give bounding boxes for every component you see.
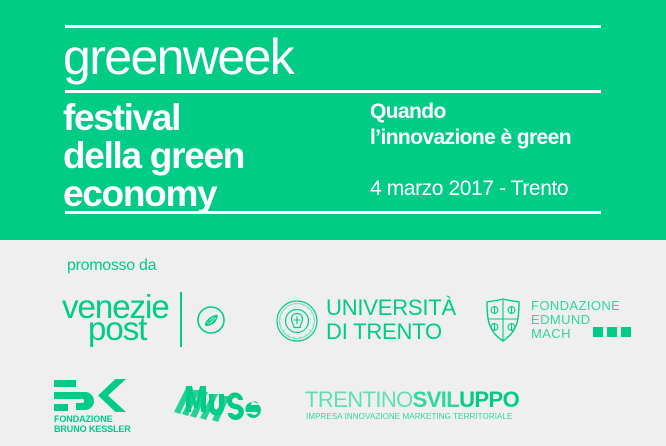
ts-word-uppo: UPPO	[459, 387, 519, 412]
trentino-sviluppo-wordmark: TRENTINOSVILUPPO	[305, 388, 519, 412]
fem-square-1	[593, 327, 603, 337]
fem-line-2: EDMUND	[531, 313, 620, 327]
fbk-line-1: FONDAZIONE	[54, 414, 131, 424]
hero-rule-middle	[65, 90, 601, 93]
fem-line-1: FONDAZIONE	[531, 299, 620, 313]
logo-venezie-post: venezie post	[62, 292, 237, 350]
festival-title-line-1: festival	[63, 99, 244, 137]
festival-title-line-3: economy	[63, 175, 244, 213]
venezie-post-divider	[180, 292, 182, 347]
university-seal-icon	[276, 300, 318, 342]
unitn-line-1: UNIVERSITÀ	[326, 296, 456, 320]
ts-word-svil: SVIL	[413, 387, 460, 412]
quartered-shield-icon	[483, 297, 523, 343]
leaf-in-circle-icon	[197, 306, 225, 334]
logo-fondazione-bruno-kessler: FONDAZIONE BRUNO KESSLER	[52, 378, 152, 438]
fbk-wordmark: FONDAZIONE BRUNO KESSLER	[54, 414, 131, 434]
tagline-line-2: l’innovazione è green	[370, 125, 571, 151]
festival-title-line-2: della green	[63, 137, 244, 175]
logo-universita-di-trento: UNIVERSITÀ DI TRENTO	[276, 296, 446, 348]
fbk-line-2: BRUNO KESSLER	[54, 424, 131, 434]
fem-square-2	[607, 327, 617, 337]
unitn-line-2: DI TRENTO	[326, 320, 456, 344]
ts-word-trentino: TRENTINO	[305, 387, 413, 412]
hero-banner: greenweek festival della green economy Q…	[0, 0, 666, 240]
event-tagline: Quando l’innovazione è green	[370, 99, 571, 151]
hero-rule-bottom	[65, 211, 601, 214]
muse-extruded-wordmark-icon	[172, 417, 272, 434]
fbk-monogram-icon	[52, 378, 130, 414]
trentino-sviluppo-subtitle: IMPRESA INNOVAZIONE MARKETING TERRITORIA…	[306, 412, 512, 422]
event-wordmark: greenweek	[63, 29, 293, 85]
fem-three-squares-icon	[593, 327, 631, 337]
promoted-by-label: promosso da	[67, 257, 156, 275]
event-date-location: 4 marzo 2017 - Trento	[370, 177, 568, 201]
festival-title: festival della green economy	[63, 99, 244, 213]
venezie-post-line-2: post	[88, 312, 146, 345]
hero-rule-top	[65, 25, 601, 28]
tagline-line-1: Quando	[370, 99, 571, 125]
greenweek-poster: greenweek festival della green economy Q…	[0, 0, 666, 446]
logo-trentino-sviluppo: TRENTINOSVILUPPO IMPRESA INNOVAZIONE MAR…	[305, 388, 490, 428]
sponsors-section: promosso da venezie post	[0, 240, 666, 446]
logo-fondazione-edmund-mach: FONDAZIONE EDMUND MACH	[483, 294, 643, 350]
logo-muse	[172, 380, 272, 430]
universita-di-trento-wordmark: UNIVERSITÀ DI TRENTO	[326, 296, 456, 344]
fem-square-3	[621, 327, 631, 337]
